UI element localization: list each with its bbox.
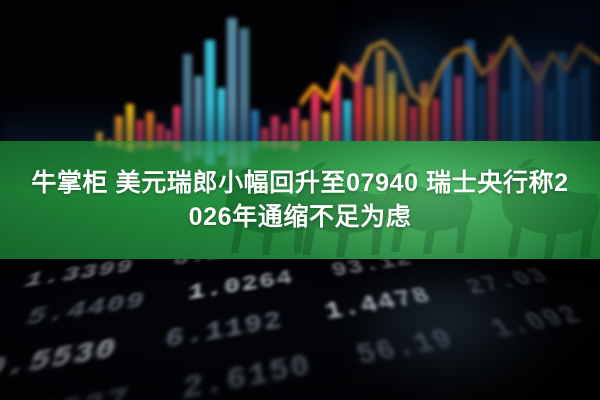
chart-bar (534, 62, 544, 150)
banner-chart-bar (115, 141, 123, 148)
chart-bar (194, 76, 203, 150)
ticker-value: 56.19 (353, 324, 461, 374)
banner-chart-bar (106, 141, 113, 145)
stock-chart-background (0, 0, 600, 150)
chart-bar (354, 64, 363, 150)
stock-ticker-board: 1.39040.2287055031.082.09456094.20711187… (0, 250, 600, 400)
banner-chart-bar (217, 141, 226, 155)
banner-chart-bar (271, 141, 279, 148)
bull-statues-icon (0, 141, 600, 259)
banner-chart-bar (205, 141, 215, 165)
chart-bar (420, 82, 429, 150)
banner-chart-bar (156, 141, 164, 147)
chart-bar (239, 28, 249, 150)
banner-chart-bar (183, 141, 192, 162)
chart-bar (580, 66, 590, 150)
banner-chart-bar (291, 141, 299, 150)
banner-chart-bar (136, 141, 144, 148)
chart-bar (205, 40, 215, 150)
chart-bar (442, 58, 452, 150)
chart-bar (183, 54, 192, 150)
green-sheen (0, 141, 600, 259)
banner-chart-bar (261, 141, 269, 146)
news-thumbnail-image: 1.39040.2287055031.082.09456094.20711187… (0, 0, 600, 400)
green-banner-band (0, 141, 600, 259)
banner-chart-bar (126, 141, 134, 151)
ticker-value: 1.092 (485, 301, 591, 346)
chart-bar (387, 72, 396, 150)
chart-bar (523, 80, 532, 150)
chart-bar (569, 78, 578, 150)
chart-bar (454, 76, 463, 150)
chart-bar (227, 18, 237, 150)
chart-bar (488, 54, 498, 150)
banner-chart-bar (227, 141, 237, 167)
banner-chart-bar (194, 141, 203, 157)
ticker-rows: 1.39040.2287055031.082.09456094.20711187… (0, 250, 600, 400)
chart-bar (511, 46, 521, 150)
chart-bar (332, 80, 341, 150)
banner-chart-bar (251, 141, 259, 150)
chart-bar (465, 40, 475, 150)
banner-chart-bar (173, 141, 181, 151)
banner-chart-bar (146, 141, 154, 149)
banner-chart-bar (281, 141, 289, 147)
banner-chart-bar (96, 141, 103, 145)
chart-bar (376, 50, 385, 150)
chart-bar (557, 52, 567, 150)
banner-chart-bar (239, 141, 249, 167)
ticker-value: 27.03 (461, 264, 556, 301)
banner-chart-bar (165, 141, 172, 145)
